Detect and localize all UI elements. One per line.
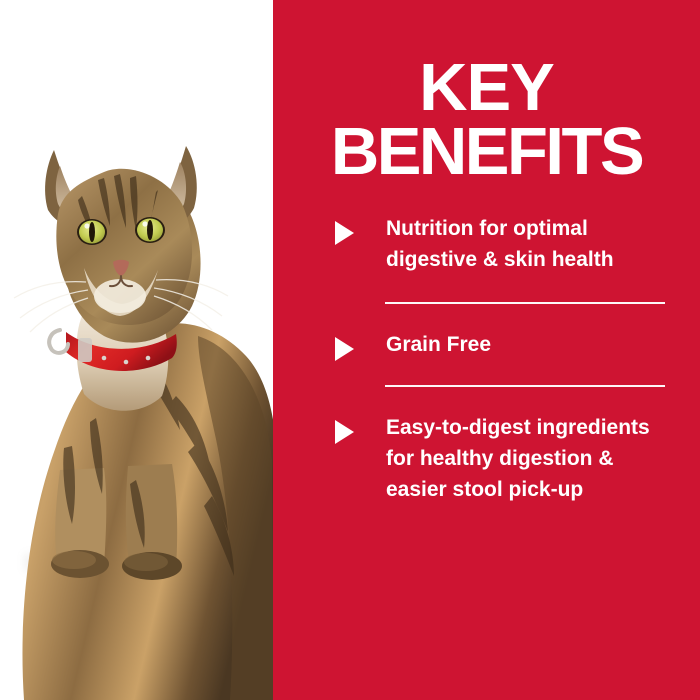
cat-photo xyxy=(0,0,273,700)
benefit-text: Easy-to-digest ingredients for healthy d… xyxy=(332,412,676,505)
benefits-panel: KEY BENEFITS Nutrition for optimal diges… xyxy=(273,0,700,700)
list-item: Easy-to-digest ingredients for healthy d… xyxy=(273,412,700,505)
benefit-divider xyxy=(385,302,665,304)
list-item: Nutrition for optimal digestive & skin h… xyxy=(273,213,700,275)
benefit-text: Grain Free xyxy=(332,329,491,360)
key-benefits-poster: KEY BENEFITS Nutrition for optimal diges… xyxy=(0,0,700,700)
play-triangle-icon xyxy=(335,221,354,245)
play-triangle-icon xyxy=(335,420,354,444)
title-line-2: BENEFITS xyxy=(273,120,700,184)
list-item: Grain Free xyxy=(273,329,700,360)
play-triangle-icon xyxy=(335,337,354,361)
page-title: KEY BENEFITS xyxy=(273,56,700,184)
benefit-text: Nutrition for optimal digestive & skin h… xyxy=(332,213,676,275)
cat-photo-panel xyxy=(0,0,273,700)
benefit-divider xyxy=(385,385,665,387)
benefits-list: Nutrition for optimal digestive & skin h… xyxy=(273,213,700,505)
